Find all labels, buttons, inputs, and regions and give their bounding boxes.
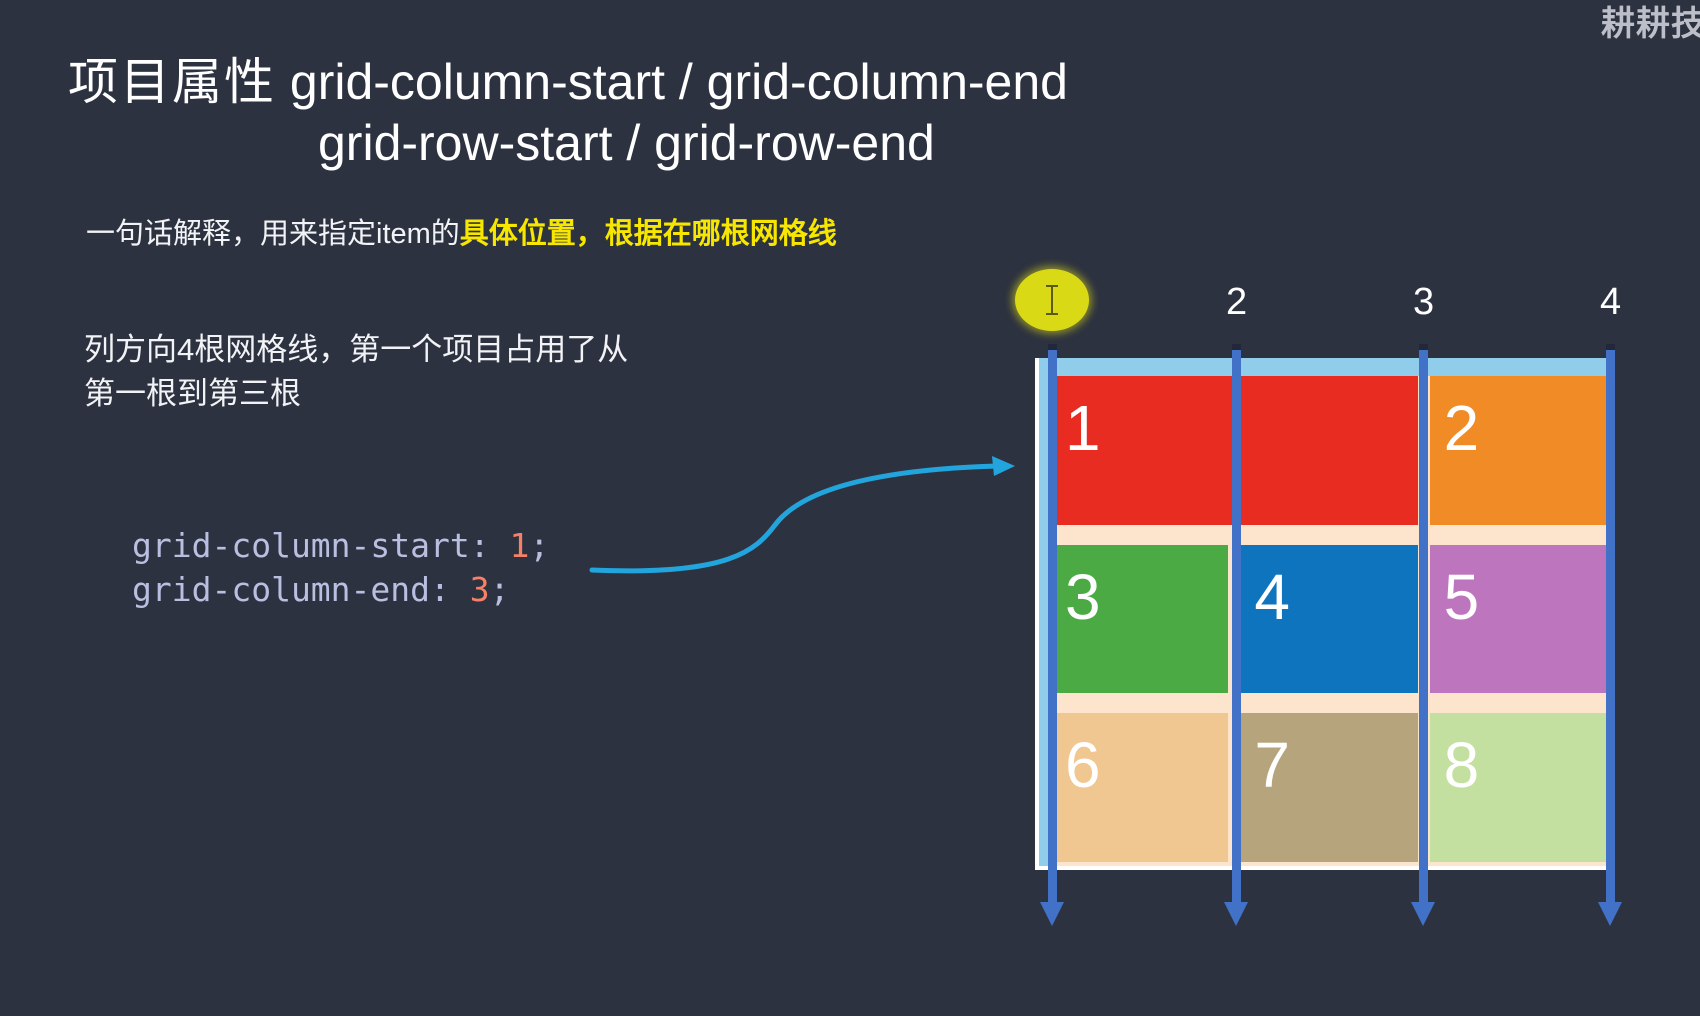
watermark-text: 耕耕技	[1601, 0, 1700, 45]
grid-item-3: 3	[1051, 545, 1228, 694]
gridline-1-arrowhead	[1040, 902, 1064, 926]
gridline-3-head	[1419, 344, 1428, 350]
subtitle: 一句话解释，用来指定item的具体位置，根据在哪根网格线	[86, 216, 837, 254]
grid-item-1-label: 1	[1065, 392, 1101, 464]
grid-item-5-label: 5	[1444, 561, 1480, 633]
grid-item-2: 2	[1430, 376, 1607, 525]
gridline-3-arrowhead	[1411, 902, 1435, 926]
grid-item-6: 6	[1051, 713, 1228, 862]
subtitle-highlight: 具体位置，根据在哪根网格线	[460, 218, 837, 250]
code-value-1: 1	[510, 526, 530, 565]
grid-diagram: 1 2 3 4 5 6 7 8	[1035, 358, 1615, 870]
code-snippet: grid-column-start: 1; grid-column-end: 3…	[132, 524, 549, 611]
gridline-2-head	[1232, 344, 1241, 350]
grid-item-7: 7	[1240, 713, 1417, 862]
grid-item-3-label: 3	[1065, 561, 1101, 633]
description-text: 列方向4根网格线，第一个项目占用了从 第一根到第三根	[84, 328, 628, 416]
grid-item-4: 4	[1240, 545, 1417, 694]
code-line-2: grid-column-end: 3;	[132, 568, 549, 612]
gridline-1-head	[1048, 344, 1057, 350]
grid-item-8-label: 8	[1444, 729, 1480, 801]
gridline-2-arrowhead	[1224, 902, 1248, 926]
grid-item-5: 5	[1430, 545, 1607, 694]
grid-items-area: 1 2 3 4 5 6 7 8	[1051, 376, 1607, 862]
subtitle-plain: 一句话解释，用来指定item的	[86, 218, 460, 250]
page-title: 项目属性 grid-column-start / grid-column-end…	[68, 52, 1268, 174]
connector-arrow	[560, 430, 1030, 600]
code-line-1: grid-column-start: 1;	[132, 524, 549, 568]
gridline-2	[1232, 348, 1241, 904]
grid-item-7-label: 7	[1254, 729, 1290, 801]
gridline-label-2: 2	[1226, 283, 1247, 321]
title-prefix: 项目属性	[68, 54, 276, 110]
gridline-label-3: 3	[1413, 283, 1434, 321]
title-properties-rows: grid-row-start / grid-row-end	[68, 113, 1268, 174]
code-property-grid-column-end: grid-column-end:	[132, 570, 450, 609]
gridline-1	[1048, 348, 1057, 904]
code-value-2: 3	[470, 570, 490, 609]
gridline-4-head	[1606, 344, 1615, 350]
grid-item-2-label: 2	[1444, 392, 1480, 464]
grid-item-4-label: 4	[1254, 561, 1290, 633]
code-semicolon-2: ;	[490, 570, 510, 609]
title-line-1: 项目属性 grid-column-start / grid-column-end	[68, 52, 1268, 113]
gridline-label-4: 4	[1600, 283, 1621, 321]
grid-container: 1 2 3 4 5 6 7 8	[1035, 358, 1615, 870]
code-semicolon-1: ;	[529, 526, 549, 565]
code-property-grid-column-start: grid-column-start:	[132, 526, 490, 565]
grid-item-6-label: 6	[1065, 729, 1101, 801]
grid-item-8: 8	[1430, 713, 1607, 862]
grid-top-band	[1039, 358, 1611, 376]
gridline-3	[1419, 348, 1428, 904]
slide-canvas: 耕耕技 项目属性 grid-column-start / grid-column…	[0, 0, 1700, 1016]
title-properties-columns: grid-column-start / grid-column-end	[290, 54, 1068, 110]
text-cursor-icon	[1051, 285, 1053, 315]
gridline-4	[1606, 348, 1615, 904]
gridline-4-arrowhead	[1598, 902, 1622, 926]
